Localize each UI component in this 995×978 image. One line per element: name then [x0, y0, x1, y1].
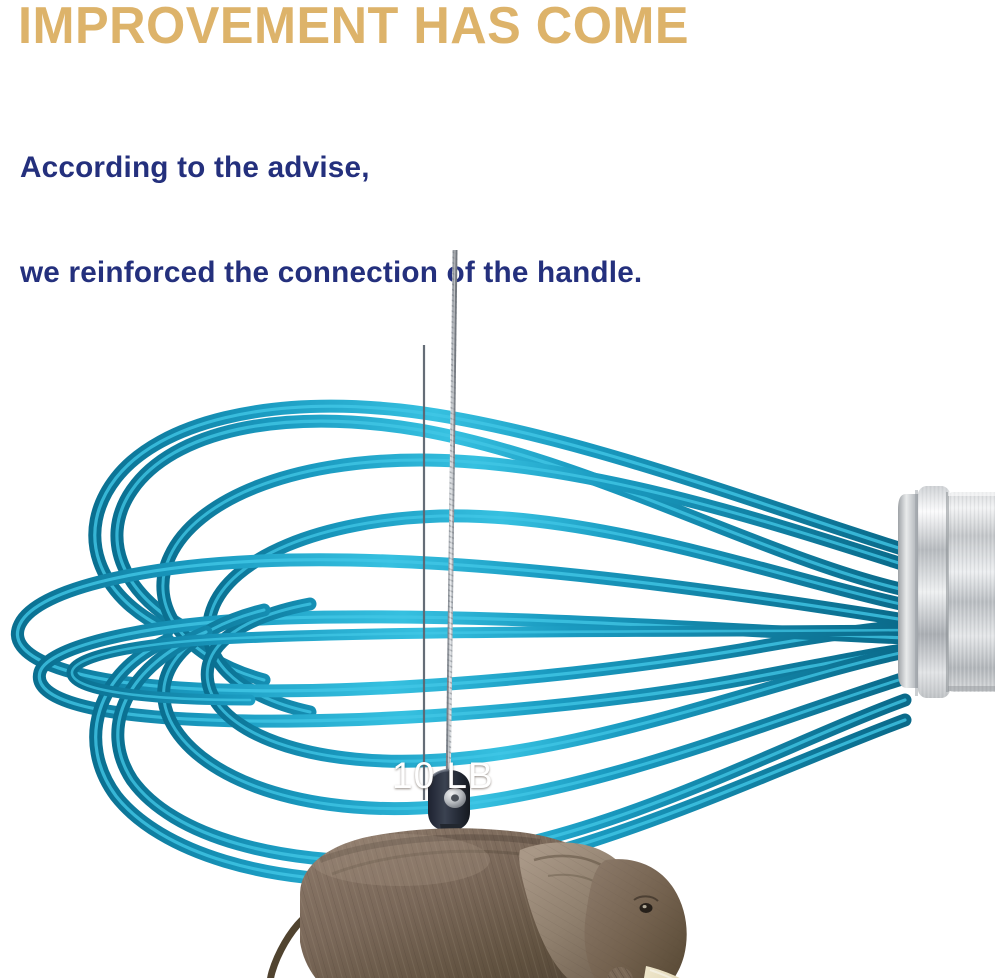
page-title: IMPROVEMENT HAS COME [18, 0, 689, 54]
elephant-tail [270, 920, 302, 978]
product-illustration [0, 160, 995, 978]
elephant-illustration [0, 160, 729, 978]
whisk-handle [898, 486, 995, 698]
promo-banner: IMPROVEMENT HAS COME According to the ad… [0, 0, 995, 978]
weight-label: 10 LB [392, 757, 494, 794]
